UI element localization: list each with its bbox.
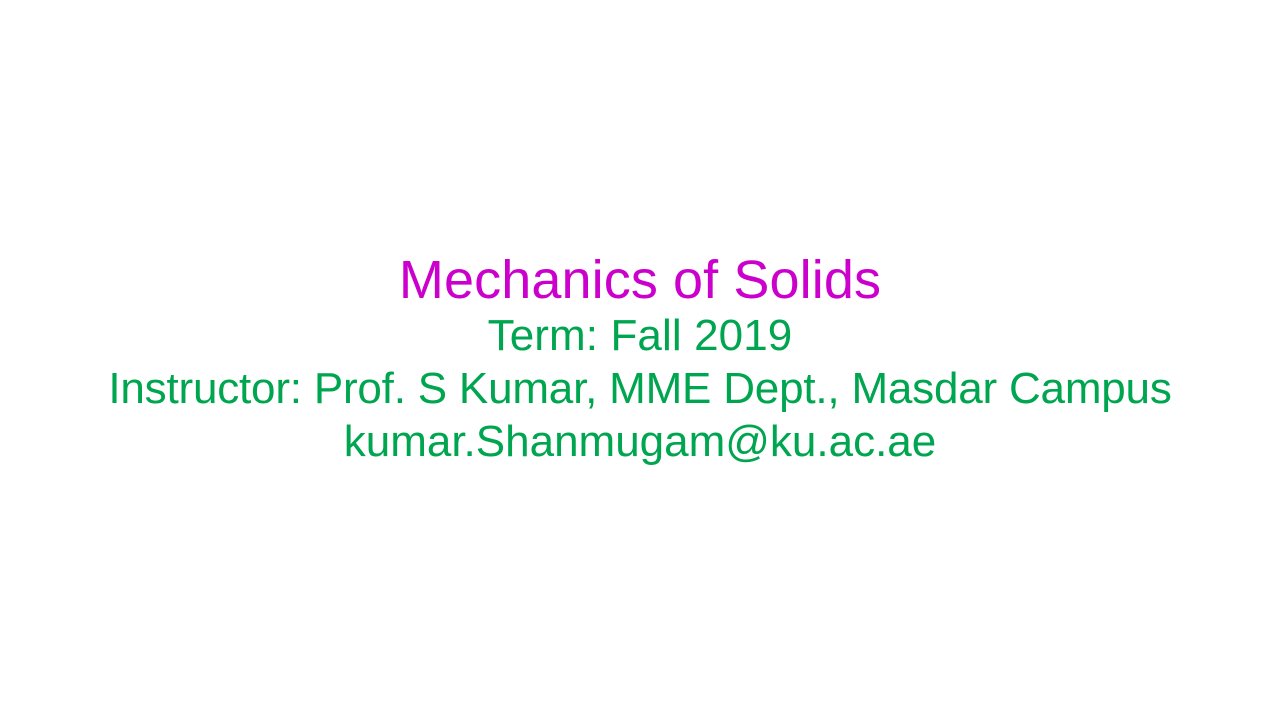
- slide-subtitle-email: kumar.Shanmugam@ku.ac.ae: [28, 415, 1252, 468]
- slide-subtitle-instructor: Instructor: Prof. S Kumar, MME Dept., Ma…: [28, 362, 1252, 415]
- presentation-slide: Mechanics of Solids Term: Fall 2019 Inst…: [0, 0, 1280, 720]
- slide-subtitle-term: Term: Fall 2019: [28, 309, 1252, 362]
- slide-title: Mechanics of Solids: [28, 252, 1252, 308]
- title-text-block: Mechanics of Solids Term: Fall 2019 Inst…: [0, 252, 1280, 468]
